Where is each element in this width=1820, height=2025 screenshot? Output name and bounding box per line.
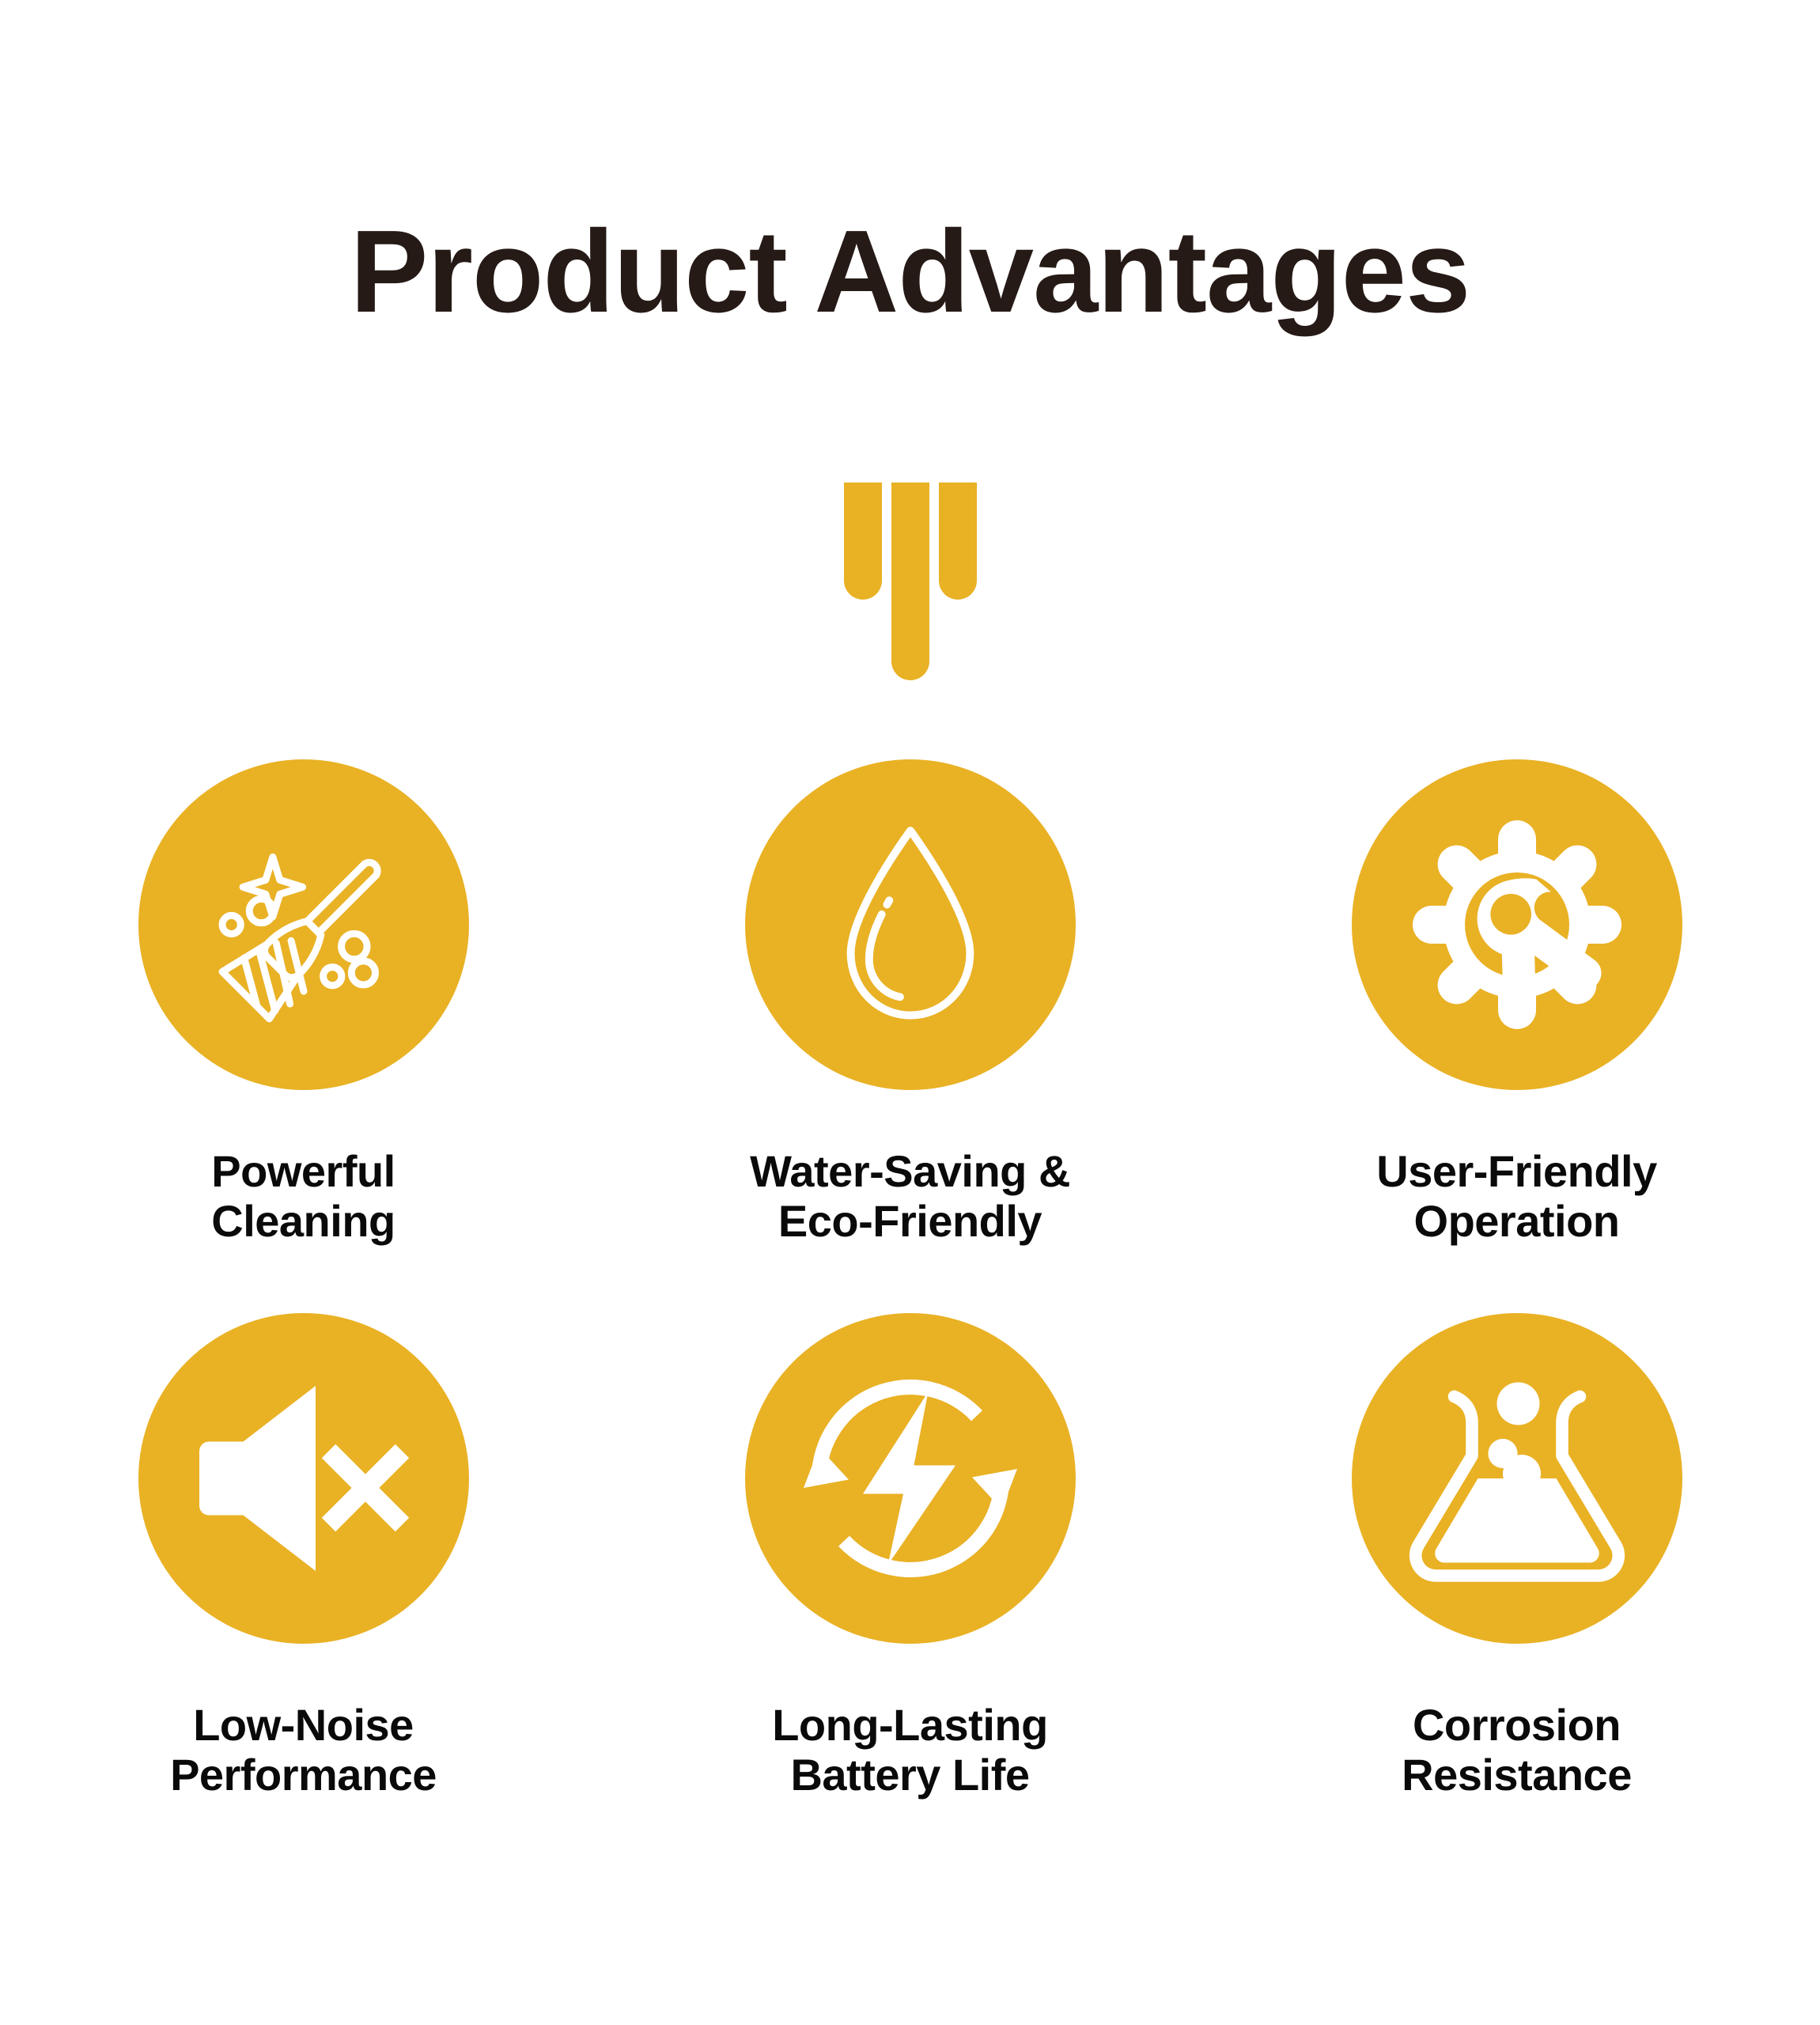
water-droplet-icon — [796, 810, 1025, 1039]
advantage-item-user-friendly[interactable]: User-Friendly Operation — [1213, 759, 1820, 1313]
icon-circle-low-noise — [138, 1313, 469, 1644]
advantage-label-line1: User-Friendly — [1376, 1146, 1657, 1196]
icon-circle-corrosion-resistance — [1352, 1313, 1682, 1644]
advantage-item-corrosion-resistance[interactable]: Corrosion Resistance — [1213, 1313, 1820, 1867]
broom-sparkle-icon — [189, 810, 418, 1039]
advantage-label-line2: Resistance — [1402, 1751, 1632, 1800]
mute-cross — [328, 1452, 402, 1525]
lightning-bolt — [863, 1392, 955, 1565]
infographic-page: Product Advantages — [0, 0, 1820, 2025]
speaker-body — [199, 1386, 316, 1571]
advantage-label-corrosion-resistance: Corrosion Resistance — [1402, 1701, 1632, 1800]
advantage-label-line1: Low-Noise — [193, 1700, 414, 1750]
chemistry-flask-icon — [1398, 1360, 1636, 1597]
gear-wrench-icon — [1398, 806, 1636, 1043]
lightning-recycle-icon — [792, 1360, 1029, 1597]
advantage-label-line2: Performance — [170, 1751, 437, 1800]
page-title: Product Advantages — [0, 214, 1820, 331]
advantage-label-user-friendly: User-Friendly Operation — [1376, 1147, 1657, 1246]
advantage-label-water-saving: Water-Saving & Eco-Friendly — [750, 1147, 1070, 1246]
advantage-label-powerful-cleaning: Powerful Cleaning — [211, 1147, 395, 1246]
advantages-grid: Powerful Cleaning Wate — [0, 759, 1820, 1867]
advantage-label-line2: Battery Life — [772, 1751, 1048, 1800]
speaker-mute-icon — [185, 1360, 422, 1597]
flask-bubbles — [1488, 1383, 1541, 1493]
icon-circle-battery-life — [745, 1313, 1076, 1644]
icon-circle-water-saving — [745, 759, 1076, 1090]
advantage-label-low-noise: Low-Noise Performance — [170, 1701, 437, 1800]
three-bar-divider — [0, 483, 1820, 680]
divider-bar-right — [939, 483, 977, 600]
advantage-item-battery-life[interactable]: Long-Lasting Battery Life — [607, 1313, 1213, 1867]
advantage-label-battery-life: Long-Lasting Battery Life — [772, 1701, 1048, 1800]
icon-circle-powerful-cleaning — [138, 759, 469, 1090]
advantage-item-water-saving[interactable]: Water-Saving & Eco-Friendly — [607, 759, 1213, 1313]
advantage-label-line2: Operation — [1376, 1197, 1657, 1247]
advantage-item-low-noise[interactable]: Low-Noise Performance — [0, 1313, 607, 1867]
icon-circle-user-friendly — [1352, 759, 1682, 1090]
advantage-label-line1: Powerful — [211, 1146, 395, 1196]
page-title-container: Product Advantages — [0, 214, 1820, 331]
advantage-label-line1: Water-Saving & — [750, 1146, 1070, 1196]
divider-bar-left — [844, 483, 882, 600]
advantage-label-line2: Cleaning — [211, 1197, 395, 1247]
advantage-label-line1: Corrosion — [1413, 1700, 1621, 1750]
advantage-label-line2: Eco-Friendly — [750, 1197, 1070, 1247]
advantage-item-powerful-cleaning[interactable]: Powerful Cleaning — [0, 759, 607, 1313]
advantage-label-line1: Long-Lasting — [772, 1700, 1048, 1750]
divider-bar-center — [891, 483, 929, 680]
